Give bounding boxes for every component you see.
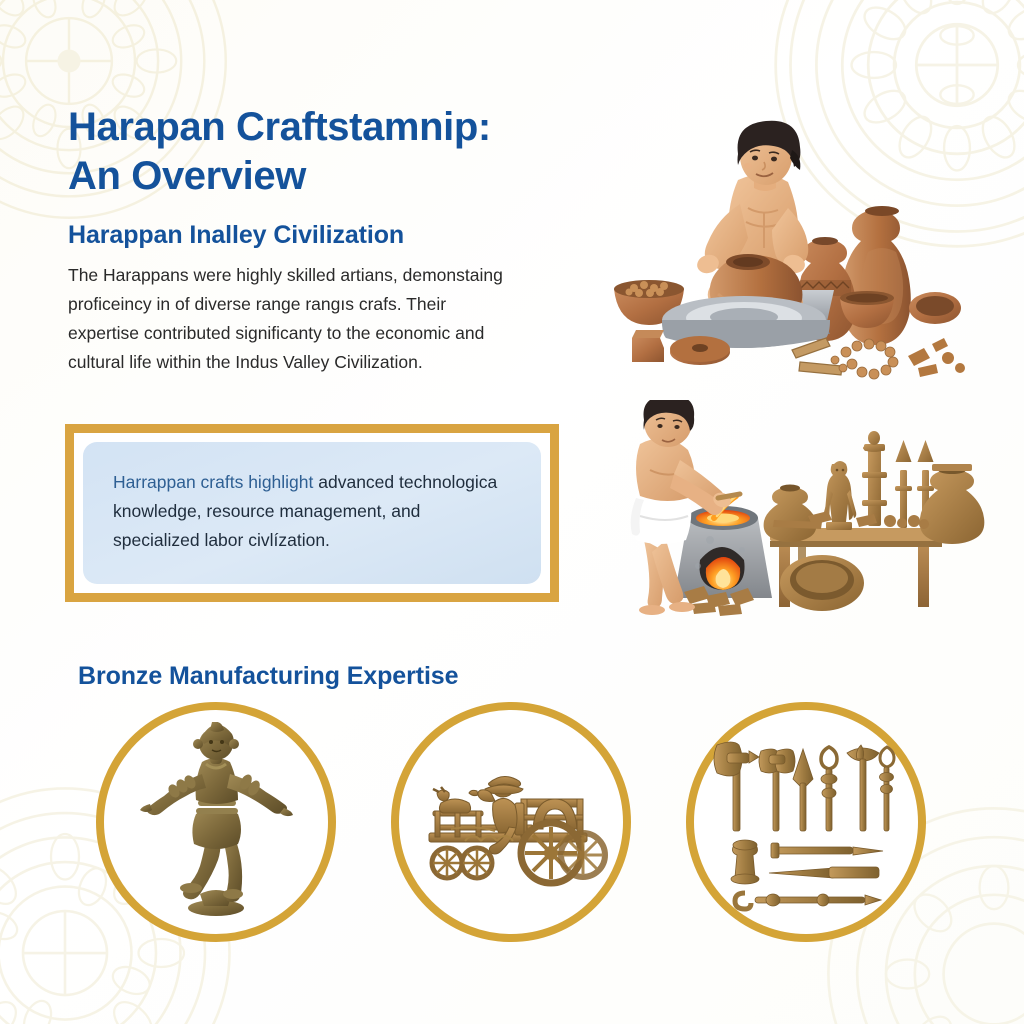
page-title: Harapan Craftstamnip: An Overview — [68, 103, 668, 201]
highlight-callout: Harrappan crafts highlight advanced tech… — [65, 424, 559, 602]
infographic-poster: Harapan Craftstamnip: An Overview Harapp… — [0, 0, 1024, 1024]
body-paragraph: The Harappans were highly skilled artian… — [68, 261, 520, 377]
bronze-artifact-badges — [96, 702, 936, 950]
subheading: Harappan Inalley Civilization — [68, 221, 628, 250]
bronze-bullock-cart-badge[interactable] — [391, 702, 631, 942]
page-title-line-1: Harapan Craftstamnip: — [68, 103, 668, 152]
dancing-girl-figurine-badge[interactable] — [96, 702, 336, 942]
section-heading-bronze: Bronze Manufacturing Expertise — [78, 662, 458, 691]
highlight-callout-panel: Harrappan crafts highlight advanced tech… — [83, 442, 541, 584]
bronze-smelter-illustration — [622, 400, 1004, 622]
bronze-tools-badge[interactable] — [686, 702, 926, 942]
highlight-callout-text: Harrappan crafts highlight advanced tech… — [113, 468, 511, 555]
highlight-callout-lead: Harrappan crafts highlight — [113, 472, 313, 492]
potter-at-wheel-illustration — [596, 112, 996, 380]
page-title-line-2: An Overview — [68, 152, 668, 201]
